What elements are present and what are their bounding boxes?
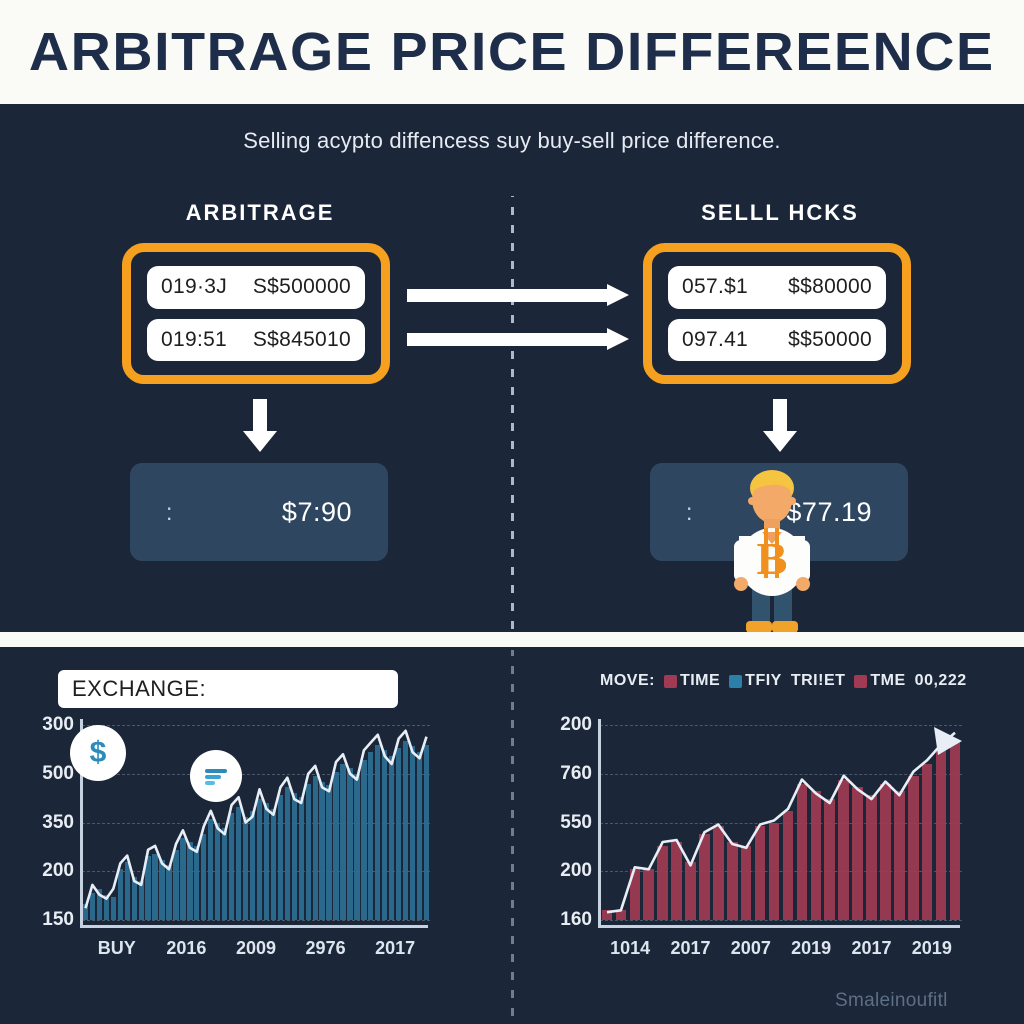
y-axis-tick-label: 760 [560,763,592,785]
legend-label: TRI!ET [791,672,846,690]
quote-price: S$500000 [253,275,351,299]
legend-entry: 00,222 [915,672,967,690]
x-axis-tick-label: 2976 [291,938,361,959]
left-chart-xticks: BUY2016200929762017 [82,938,430,959]
legend-label: 00,222 [915,672,967,690]
svg-text:$: $ [90,736,107,769]
legend-swatch [854,675,867,688]
y-axis-tick-label: 150 [42,909,74,931]
right-chart-xticks: 101420172007201920172019 [600,938,962,959]
quote-code: 057.$1 [682,275,748,299]
quote-code: 019:51 [161,328,227,352]
x-axis-tick-label: 2017 [360,938,430,959]
y-axis-tick-label: 200 [560,860,592,882]
up-right-arrow-icon [934,727,962,755]
y-axis-tick-label: 160 [560,909,592,931]
page-title: ARBITRAGE PRICE DIFFEREENCE [29,21,995,83]
quote-price: $$50000 [788,328,872,352]
left-quote-card: 019·3J S$500000 019:51 S$845010 [122,243,390,384]
x-axis-tick-label: 2016 [152,938,222,959]
result-value: $7:90 [282,497,352,528]
x-axis-tick-label: 2019 [781,938,841,959]
quote-row: 019:51 S$845010 [147,319,365,362]
x-axis-tick-label: 2017 [660,938,720,959]
legend-swatch [664,675,677,688]
legend-title: MOVE: [600,672,655,690]
quote-code: 019·3J [161,275,227,299]
x-axis-tick-label: 1014 [600,938,660,959]
exchange-label: EXCHANGE: [72,676,206,702]
x-axis-tick-label: 2019 [902,938,962,959]
left-chart-panel: EXCHANGE: 300500350200150 BUY20162009297… [30,650,490,990]
x-axis-tick-label: BUY [82,938,152,959]
gridline [82,920,430,921]
quote-row: 097.41 $$50000 [668,319,886,362]
left-result-box: : $7:90 [130,463,388,561]
x-axis-tick-label: 2009 [221,938,291,959]
right-arrow-icon [407,284,629,306]
legend-entry: TFIY [729,672,782,690]
quote-row: 019·3J S$500000 [147,266,365,309]
right-chart-panel: MOVE:TIMETFIYTRI!ETTME00,222 20076055020… [548,650,1010,990]
y-axis-tick-label: 500 [42,763,74,785]
right-quote-card: 057.$1 $$80000 097.41 $$50000 [643,243,911,384]
right-column-header: SELLL HCKS [650,200,910,226]
left-chart-plot: 300500350200150 [82,725,430,920]
infographic-poster: ARBITRAGE PRICE DIFFEREENCE Selling acyp… [0,0,1024,1024]
legend-label: TFIY [745,672,782,690]
legend-swatch [729,675,742,688]
x-axis [598,925,960,928]
dollar-icon: $ [70,725,126,781]
x-axis-tick-label: 2007 [721,938,781,959]
legend-label: TIME [680,672,720,690]
result-label: : [686,499,693,526]
x-axis [80,925,428,928]
y-axis-tick-label: 200 [42,860,74,882]
y-axis-tick-label: 350 [42,812,74,834]
bitcoin-trader-character: B B [716,466,828,636]
legend-entry: TIME [664,672,720,690]
bar-chart-icon [190,750,242,802]
right-chart-legend: MOVE:TIMETFIYTRI!ETTME00,222 [600,672,967,690]
legend-entry: TRI!ET [791,672,846,690]
watermark: Smaleinoufitl [835,990,948,1012]
quote-code: 097.41 [682,328,748,352]
page-subtitle: Selling acypto diffencess suy buy-sell p… [0,128,1024,154]
vertical-dotted-divider-top [511,196,514,632]
legend-entry: TME [854,672,905,690]
exchange-label-box: EXCHANGE: [58,670,398,708]
legend-label: TME [870,672,905,690]
quote-price: $$80000 [788,275,872,299]
x-axis-tick-label: 2017 [841,938,901,959]
y-axis-tick-label: 200 [560,714,592,736]
svg-text:B: B [757,533,788,584]
vertical-dotted-divider-bottom [511,650,514,1024]
right-chart-plot: 200760550200160 [600,725,962,920]
quote-price: S$845010 [253,328,351,352]
left-column-header: ARBITRAGE [130,200,390,226]
y-axis-tick-label: 300 [42,714,74,736]
chart-line-series [600,725,962,920]
title-band: ARBITRAGE PRICE DIFFEREENCE [0,0,1024,104]
chart-line-series [82,725,430,920]
right-arrow-icon [407,328,629,350]
horizontal-separator-band [0,632,1024,647]
gridline [600,920,962,921]
result-label: : [166,499,173,526]
y-axis-tick-label: 550 [560,812,592,834]
quote-row: 057.$1 $$80000 [668,266,886,309]
